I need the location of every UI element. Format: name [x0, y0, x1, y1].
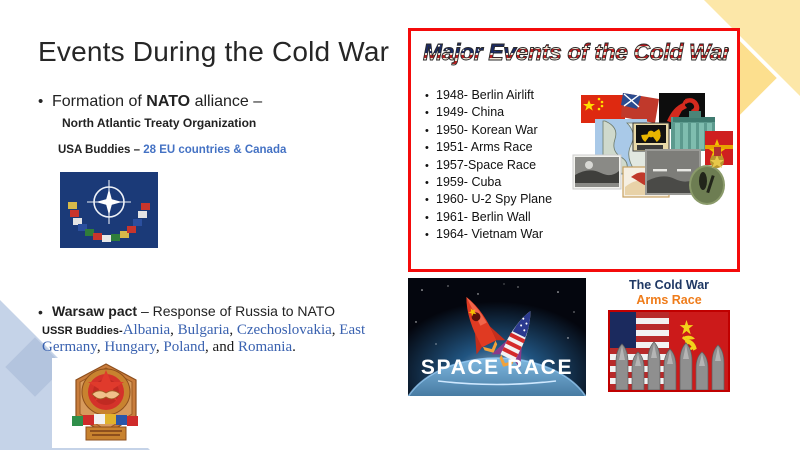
slide-canvas: Events During the Cold War • Formation o… [0, 0, 800, 450]
nato-emblem-graphic [60, 172, 158, 248]
usa-buddies-value: 28 EU countries & Canada [143, 144, 286, 156]
list-item: •1961- Berlin Wall [425, 209, 552, 226]
ussr-conjunction: and [213, 339, 235, 355]
list-item: •1957-Space Race [425, 157, 552, 174]
ussr-buddies-label: USSR Buddies- [42, 325, 123, 337]
list-item: •1949- China [425, 104, 552, 121]
warsaw-pact-emblem-graphic [52, 358, 160, 448]
page-title: Events During the Cold War [38, 36, 389, 68]
ussr-terminator: . [292, 339, 296, 355]
cold-war-collage-image [567, 89, 737, 211]
major-events-panel: Major Events of the Cold War •1948- Berl… [408, 28, 740, 272]
list-item: •1959- Cuba [425, 174, 552, 191]
list-bullet: • [425, 227, 436, 243]
bullet-marker: • [38, 92, 52, 112]
list-item-label: 1964- Vietnam War [436, 226, 543, 242]
nato-prefix: Formation of [52, 93, 146, 110]
warsaw-pact-emblem-image [52, 358, 160, 448]
list-item-label: 1951- Arms Race [436, 139, 533, 155]
ussr-country: Hungary [104, 339, 156, 355]
list-bullet: • [425, 175, 436, 191]
list-item: •1951- Arms Race [425, 139, 552, 156]
list-item-label: 1957-Space Race [436, 157, 536, 173]
list-bullet: • [425, 105, 436, 121]
nato-emblem-image [60, 172, 158, 248]
list-bullet: • [425, 123, 436, 139]
ussr-country: Romania [238, 339, 292, 355]
ussr-country: Czechoslovakia [237, 322, 332, 338]
list-bullet: • [425, 158, 436, 174]
list-item-label: 1961- Berlin Wall [436, 209, 531, 225]
bullet-marker: • [38, 302, 52, 322]
list-item: •1960- U-2 Spy Plane [425, 191, 552, 208]
arms-race-graphic [610, 312, 728, 390]
ussr-buddies-line: USSR Buddies-Albania, Bulgaria, Czechosl… [42, 322, 392, 355]
arms-race-caption-line2: Arms Race [598, 293, 740, 308]
list-bullet: • [425, 88, 436, 104]
events-list: •1948- Berlin Airlift •1949- China •1950… [425, 87, 552, 244]
ussr-country: Bulgaria [178, 322, 230, 338]
bullet-warsaw-text: Warsaw pact – Response of Russia to NATO [52, 302, 335, 320]
list-item-label: 1948- Berlin Airlift [436, 87, 534, 103]
major-events-inner: Major Events of the Cold War •1948- Berl… [411, 31, 737, 269]
list-item: •1964- Vietnam War [425, 226, 552, 243]
list-item: •1950- Korean War [425, 122, 552, 139]
usa-buddies-label: USA Buddies – [58, 144, 143, 156]
bullet-nato: • Formation of NATO alliance – [38, 92, 262, 112]
list-item-label: 1950- Korean War [436, 122, 538, 138]
arms-race-caption-line1: The Cold War [598, 278, 740, 293]
nato-expansion-text: North Atlantic Treaty Organization [62, 116, 256, 130]
nato-suffix: alliance – [190, 93, 262, 110]
arms-race-image [608, 310, 730, 392]
list-item-label: 1959- Cuba [436, 174, 501, 190]
list-item-label: 1960- U-2 Spy Plane [436, 191, 552, 207]
nato-emphasis: NATO [146, 93, 190, 110]
major-events-heading-text: Major Events of the Cold War [423, 39, 729, 65]
warsaw-suffix: – Response of Russia to NATO [137, 303, 335, 319]
major-events-heading: Major Events of the Cold War [421, 37, 729, 67]
ussr-country: Poland [163, 339, 205, 355]
cold-war-collage-graphic [567, 89, 737, 211]
list-item-label: 1949- China [436, 104, 504, 120]
usa-buddies-line: USA Buddies – 28 EU countries & Canada [58, 144, 286, 156]
list-item: •1948- Berlin Airlift [425, 87, 552, 104]
major-events-wordart: Major Events of the Cold War [421, 37, 729, 67]
space-race-caption: SPACE RACE [421, 356, 573, 379]
warsaw-emphasis: Warsaw pact [52, 303, 137, 319]
space-race-image: SPACE RACE [408, 278, 586, 396]
list-bullet: • [425, 140, 436, 156]
list-bullet: • [425, 192, 436, 208]
arms-race-caption: The Cold War Arms Race [598, 278, 740, 308]
ussr-country: Albania [123, 322, 170, 338]
list-bullet: • [425, 210, 436, 226]
bullet-nato-text: Formation of NATO alliance – [52, 92, 262, 112]
bullet-warsaw: • Warsaw pact – Response of Russia to NA… [38, 302, 335, 322]
space-race-graphic: SPACE RACE [408, 278, 586, 396]
